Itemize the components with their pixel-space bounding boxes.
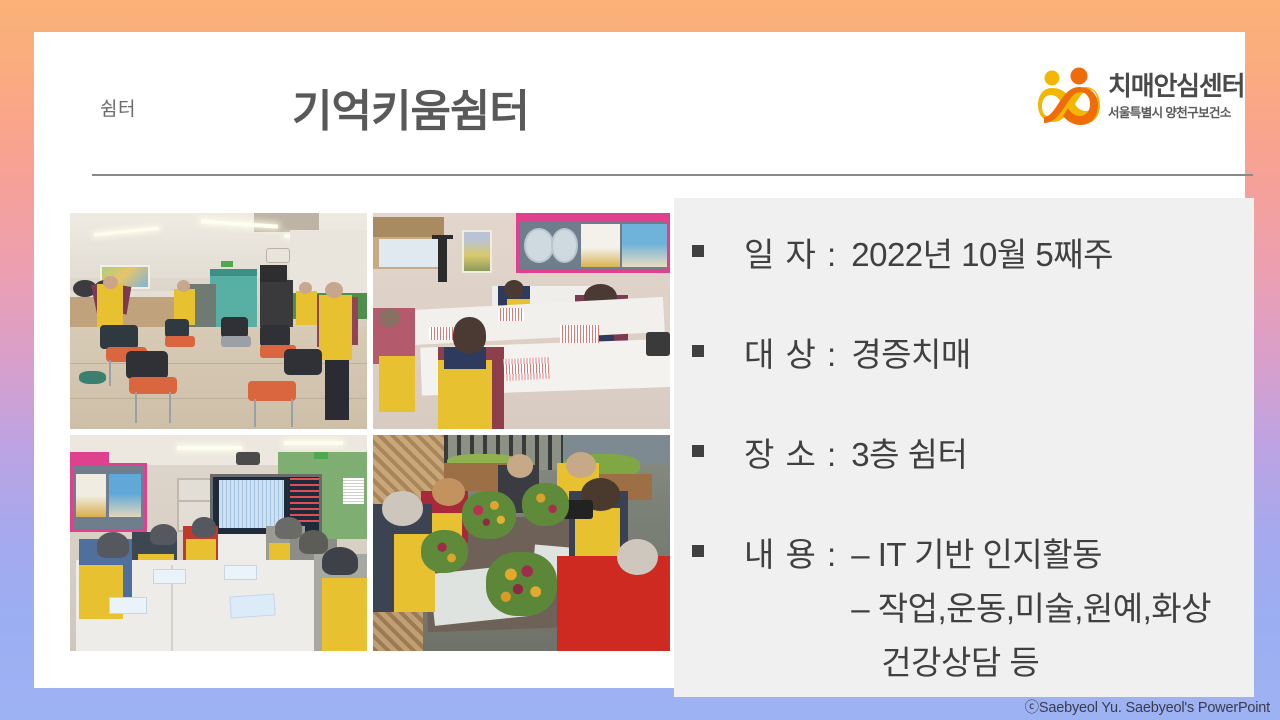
- info-row-place: 장 소 : 3층 쉼터: [692, 428, 1262, 476]
- bullet-square-icon: [692, 345, 704, 357]
- info-label-content: 내 용 :: [744, 528, 837, 576]
- info-label-target: 대 상 :: [744, 328, 837, 376]
- info-label-place: 장 소 :: [744, 428, 837, 476]
- photo-horticulture-outdoor: [373, 435, 670, 651]
- photo-it-screen-class: [70, 435, 367, 651]
- photo-exercise-chairs: [70, 213, 367, 429]
- info-value-target: 경증치매: [851, 328, 970, 376]
- two-figures-infinity-logo-icon: [1034, 66, 1100, 128]
- center-logo: 치매안심센터 서울특별시 양천구보건소: [1034, 66, 1244, 128]
- logo-subtitle: 서울특별시 양천구보건소: [1108, 102, 1244, 121]
- bullet-square-icon: [692, 445, 704, 457]
- header-kicker: 쉼터: [100, 94, 136, 121]
- info-value-place: 3층 쉼터: [851, 428, 967, 476]
- footer-credit: ⓒSaebyeol Yu. Saebyeol's PowerPoint: [0, 696, 1280, 720]
- bullet-square-icon: [692, 245, 704, 257]
- info-row-target: 대 상 : 경증치매: [692, 328, 1262, 376]
- bullet-square-icon: [692, 545, 704, 557]
- info-content-line-1: – IT 기반 인지활동: [851, 528, 1211, 576]
- logo-name: 치매안심센터: [1108, 73, 1244, 100]
- header-divider: [92, 174, 1253, 176]
- info-row-date: 일 자 : 2022년 10월 5째주: [692, 228, 1262, 276]
- slide-card: 쉼터 기억키움쉼터 치매안심센터 서울특별시 양천구보건소: [34, 32, 1245, 688]
- info-label-date: 일 자 :: [744, 228, 837, 276]
- info-content-line-2: – 작업,운동,미술,원예,화상: [851, 582, 1211, 630]
- photo-worksheet-activity: [373, 213, 670, 429]
- page-title: 기억키움쉼터: [292, 90, 529, 134]
- info-value-date: 2022년 10월 5째주: [851, 228, 1113, 276]
- info-content-line-3: 건강상담 등: [881, 636, 1211, 684]
- info-list: 일 자 : 2022년 10월 5째주 대 상 : 경증치매 장 소 : 3층 …: [692, 228, 1262, 684]
- info-row-content: 내 용 : – IT 기반 인지활동 – 작업,운동,미술,원예,화상 건강상담…: [692, 528, 1262, 684]
- photo-grid: [70, 213, 670, 667]
